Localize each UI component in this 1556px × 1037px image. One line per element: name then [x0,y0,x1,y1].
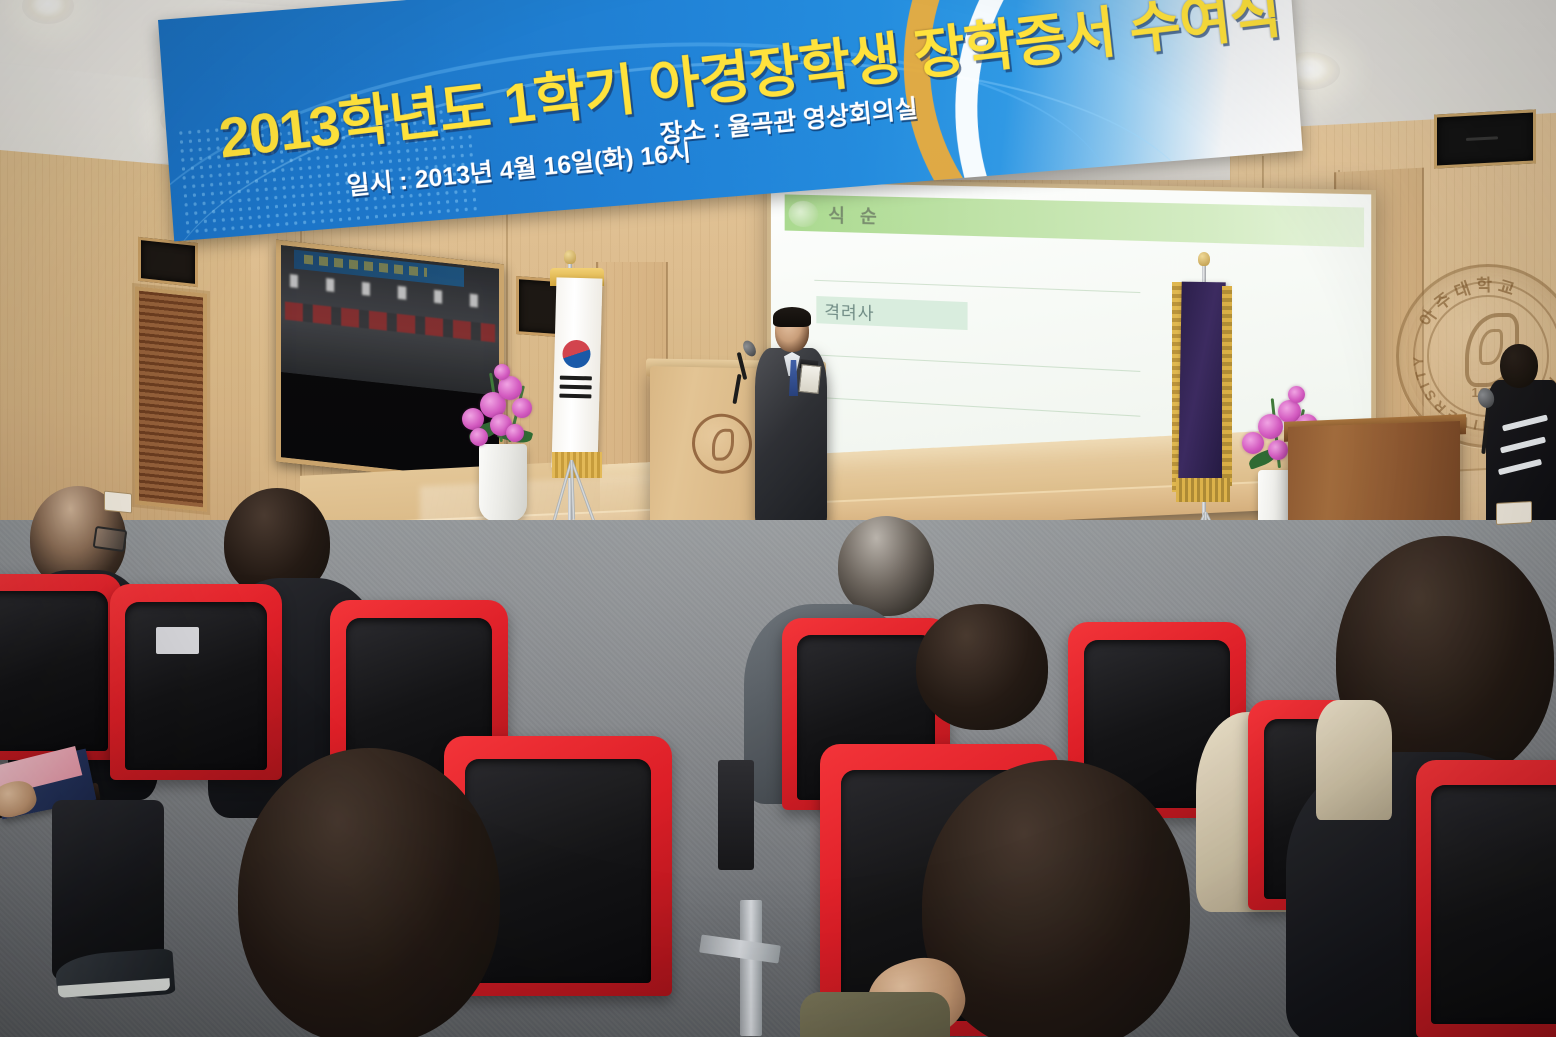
taeguk-icon [562,340,591,369]
speaker-name-badge [799,364,822,394]
slide-bullet-icon [789,201,819,228]
audience-arm-foreground [800,992,950,1037]
slide-current-item-label: 격려사 [816,297,874,325]
ceremonial-flag-fringe-bottom [1176,478,1230,502]
university-ceremonial-flag [1178,282,1225,483]
audience-head-foreground [238,748,500,1037]
seat-support-leg [740,900,762,1036]
eyeglasses-icon [93,526,128,552]
speaker-hair [773,307,811,327]
audience-head [916,604,1048,730]
seat-backrest [1431,785,1556,1024]
slide-header-bar: 식 순 [785,194,1364,247]
orchid-flower [470,428,488,446]
wall-outlet [1496,501,1532,525]
flag-finial-icon [1198,252,1210,266]
slide-header-title: 식 순 [828,201,882,229]
orchid-flower [494,364,510,380]
seat-armrest [718,760,754,870]
slide-current-item: 격려사 [816,296,967,330]
podium-emblem-icon [692,413,752,474]
slide-rule [814,354,1140,372]
slide-rule [814,397,1140,417]
wood-louvre-vent [135,286,207,512]
orchid-flower [1268,440,1288,460]
seat-number-tag [156,627,198,654]
attendant-head [1500,344,1538,388]
ceremonial-flag-fringe-right [1222,286,1232,486]
wall-speaker-icon [1434,109,1536,168]
seat-backrest [125,602,266,771]
auditorium-seat [110,584,282,780]
wall-niche-box [138,237,198,287]
orchid-flower [1288,386,1305,403]
orchid-flower [512,398,532,418]
orchid-flower [506,424,524,442]
seat-backrest [0,591,108,751]
audience-shoulder [1316,700,1392,820]
auditorium-photo: 아주대학교 AJOU UNIVERSITY 1973 식 순 격려사 40 [0,0,1556,1037]
auditorium-seat [0,574,122,760]
audience-head [838,516,934,616]
monitor-seats-reflection [285,302,494,343]
flower-pot-left [479,444,527,522]
slide-rule [814,280,1140,293]
korean-national-flag [552,277,603,468]
wall-outlet [104,491,132,514]
monitor-image [281,245,499,396]
trigram-bar [560,376,592,381]
trigram-bar [559,394,591,399]
trigram-bar [560,385,592,390]
auditorium-seat [1416,760,1556,1037]
wall-monitor-left [276,240,504,487]
flag-finial-icon [564,250,576,264]
